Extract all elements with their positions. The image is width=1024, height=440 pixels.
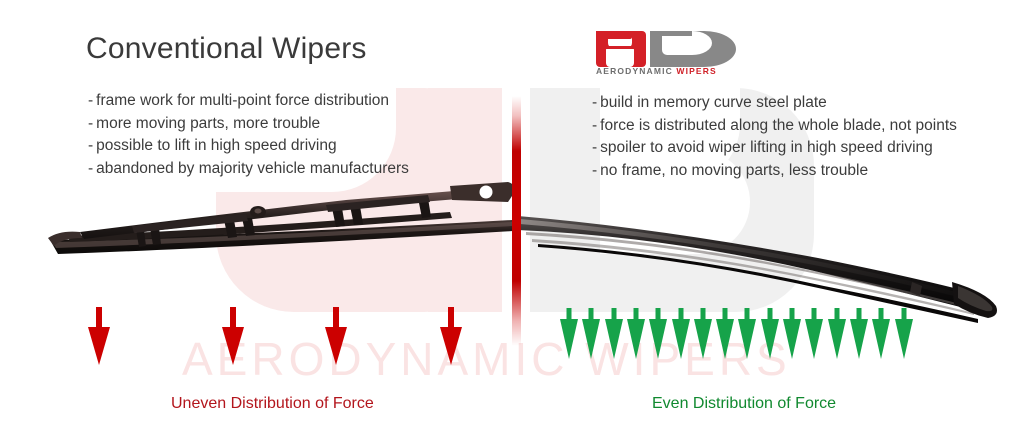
force-arrow-stem bbox=[656, 308, 661, 319]
comparison-infographic: AERODYNAMIC WIPERS Conventional Wipers -… bbox=[0, 0, 1024, 440]
force-arrow-head bbox=[895, 319, 913, 359]
list-item: -abandoned by majority vehicle manufactu… bbox=[88, 158, 409, 181]
force-arrow-stem bbox=[879, 308, 884, 319]
force-arrow bbox=[828, 308, 846, 359]
force-arrow bbox=[761, 308, 779, 359]
caption-uneven-force: Uneven Distribution of Force bbox=[171, 395, 374, 413]
page-title-conventional: Conventional Wipers bbox=[86, 32, 367, 66]
conventional-wiper-graphic bbox=[46, 180, 516, 290]
logo-tagline-wipers: WIPERS bbox=[676, 66, 716, 76]
force-arrow bbox=[872, 308, 890, 359]
force-arrow-head bbox=[738, 319, 756, 359]
uneven-force-arrows bbox=[60, 305, 500, 370]
list-item-label: build in memory curve steel plate bbox=[600, 94, 827, 111]
force-arrow-stem bbox=[448, 307, 454, 327]
force-arrow-stem bbox=[230, 307, 236, 327]
center-divider bbox=[512, 96, 521, 346]
force-arrow-stem bbox=[857, 308, 862, 319]
list-item: -build in memory curve steel plate bbox=[592, 92, 957, 115]
force-arrow bbox=[805, 308, 823, 359]
force-arrow-head bbox=[222, 327, 244, 365]
force-arrow-stem bbox=[701, 308, 706, 319]
force-arrow-stem bbox=[723, 308, 728, 319]
force-arrow bbox=[694, 308, 712, 359]
list-item-label: more moving parts, more trouble bbox=[96, 115, 320, 132]
bullet-marker: - bbox=[592, 117, 597, 134]
force-arrow bbox=[627, 308, 645, 359]
force-arrow-head bbox=[694, 319, 712, 359]
list-item: -more moving parts, more trouble bbox=[88, 113, 409, 136]
force-arrow-head bbox=[716, 319, 734, 359]
bullet-marker: - bbox=[88, 92, 93, 109]
force-arrow-stem bbox=[812, 308, 817, 319]
even-force-arrows bbox=[556, 308, 936, 370]
force-arrow-stem bbox=[96, 307, 102, 327]
bullet-marker: - bbox=[592, 139, 597, 156]
force-arrow bbox=[895, 308, 913, 359]
force-arrow bbox=[222, 307, 244, 365]
list-item-label: frame work for multi-point force distrib… bbox=[96, 92, 389, 109]
list-item-label: abandoned by majority vehicle manufactur… bbox=[96, 160, 409, 177]
force-arrow bbox=[672, 308, 690, 359]
list-item-label: possible to lift in high speed driving bbox=[96, 137, 336, 154]
force-arrow-head bbox=[627, 319, 645, 359]
force-arrow-head bbox=[560, 319, 578, 359]
force-arrow-stem bbox=[333, 307, 339, 327]
bullet-marker: - bbox=[88, 115, 93, 132]
bullet-marker: - bbox=[592, 94, 597, 111]
force-arrow bbox=[88, 307, 110, 365]
force-arrow bbox=[850, 308, 868, 359]
force-arrow-head bbox=[605, 319, 623, 359]
bullet-marker: - bbox=[592, 162, 597, 179]
logo-mark-icon bbox=[596, 27, 736, 67]
force-arrow-stem bbox=[589, 308, 594, 319]
logo-tagline-aerodynamic: AERODYNAMIC bbox=[596, 66, 673, 76]
force-arrow-head bbox=[850, 319, 868, 359]
list-item: -spoiler to avoid wiper lifting in high … bbox=[592, 137, 957, 160]
force-arrow bbox=[582, 308, 600, 359]
force-arrow-head bbox=[440, 327, 462, 365]
list-item: -no frame, no moving parts, less trouble bbox=[592, 160, 957, 183]
logo-tagline: AERODYNAMIC WIPERS bbox=[596, 66, 717, 76]
right-bullet-list: -build in memory curve steel plate -forc… bbox=[592, 92, 957, 182]
list-item-label: spoiler to avoid wiper lifting in high s… bbox=[600, 139, 933, 156]
force-arrow-head bbox=[325, 327, 347, 365]
conventional-wiper-image bbox=[46, 180, 516, 290]
caption-even-force: Even Distribution of Force bbox=[652, 395, 836, 413]
list-item: -possible to lift in high speed driving bbox=[88, 135, 409, 158]
force-arrow-stem bbox=[768, 308, 773, 319]
list-item-label: force is distributed along the whole bla… bbox=[600, 117, 957, 134]
force-arrow bbox=[605, 308, 623, 359]
force-arrow bbox=[738, 308, 756, 359]
force-arrow-stem bbox=[567, 308, 572, 319]
force-arrow-head bbox=[872, 319, 890, 359]
force-arrow-head bbox=[805, 319, 823, 359]
force-arrow-head bbox=[761, 319, 779, 359]
force-arrow-head bbox=[88, 327, 110, 365]
force-arrow-head bbox=[828, 319, 846, 359]
force-arrow-stem bbox=[745, 308, 750, 319]
force-arrow-stem bbox=[902, 308, 907, 319]
force-arrow-stem bbox=[835, 308, 840, 319]
force-arrow bbox=[649, 308, 667, 359]
force-arrow-head bbox=[582, 319, 600, 359]
force-arrow-stem bbox=[790, 308, 795, 319]
force-arrow bbox=[560, 308, 578, 359]
brand-logo: AERODYNAMIC WIPERS bbox=[596, 27, 736, 83]
left-bullet-list: -frame work for multi-point force distri… bbox=[88, 90, 409, 180]
force-arrow-head bbox=[783, 319, 801, 359]
list-item: -force is distributed along the whole bl… bbox=[592, 115, 957, 138]
force-arrow bbox=[716, 308, 734, 359]
force-arrow-stem bbox=[679, 308, 684, 319]
force-arrow bbox=[440, 307, 462, 365]
list-item-label: no frame, no moving parts, less trouble bbox=[600, 162, 868, 179]
force-arrow bbox=[325, 307, 347, 365]
force-arrow-head bbox=[649, 319, 667, 359]
force-arrow bbox=[783, 308, 801, 359]
force-arrow-head bbox=[672, 319, 690, 359]
bullet-marker: - bbox=[88, 137, 93, 154]
force-arrow-stem bbox=[634, 308, 639, 319]
list-item: -frame work for multi-point force distri… bbox=[88, 90, 409, 113]
force-arrow-stem bbox=[612, 308, 617, 319]
bullet-marker: - bbox=[88, 160, 93, 177]
